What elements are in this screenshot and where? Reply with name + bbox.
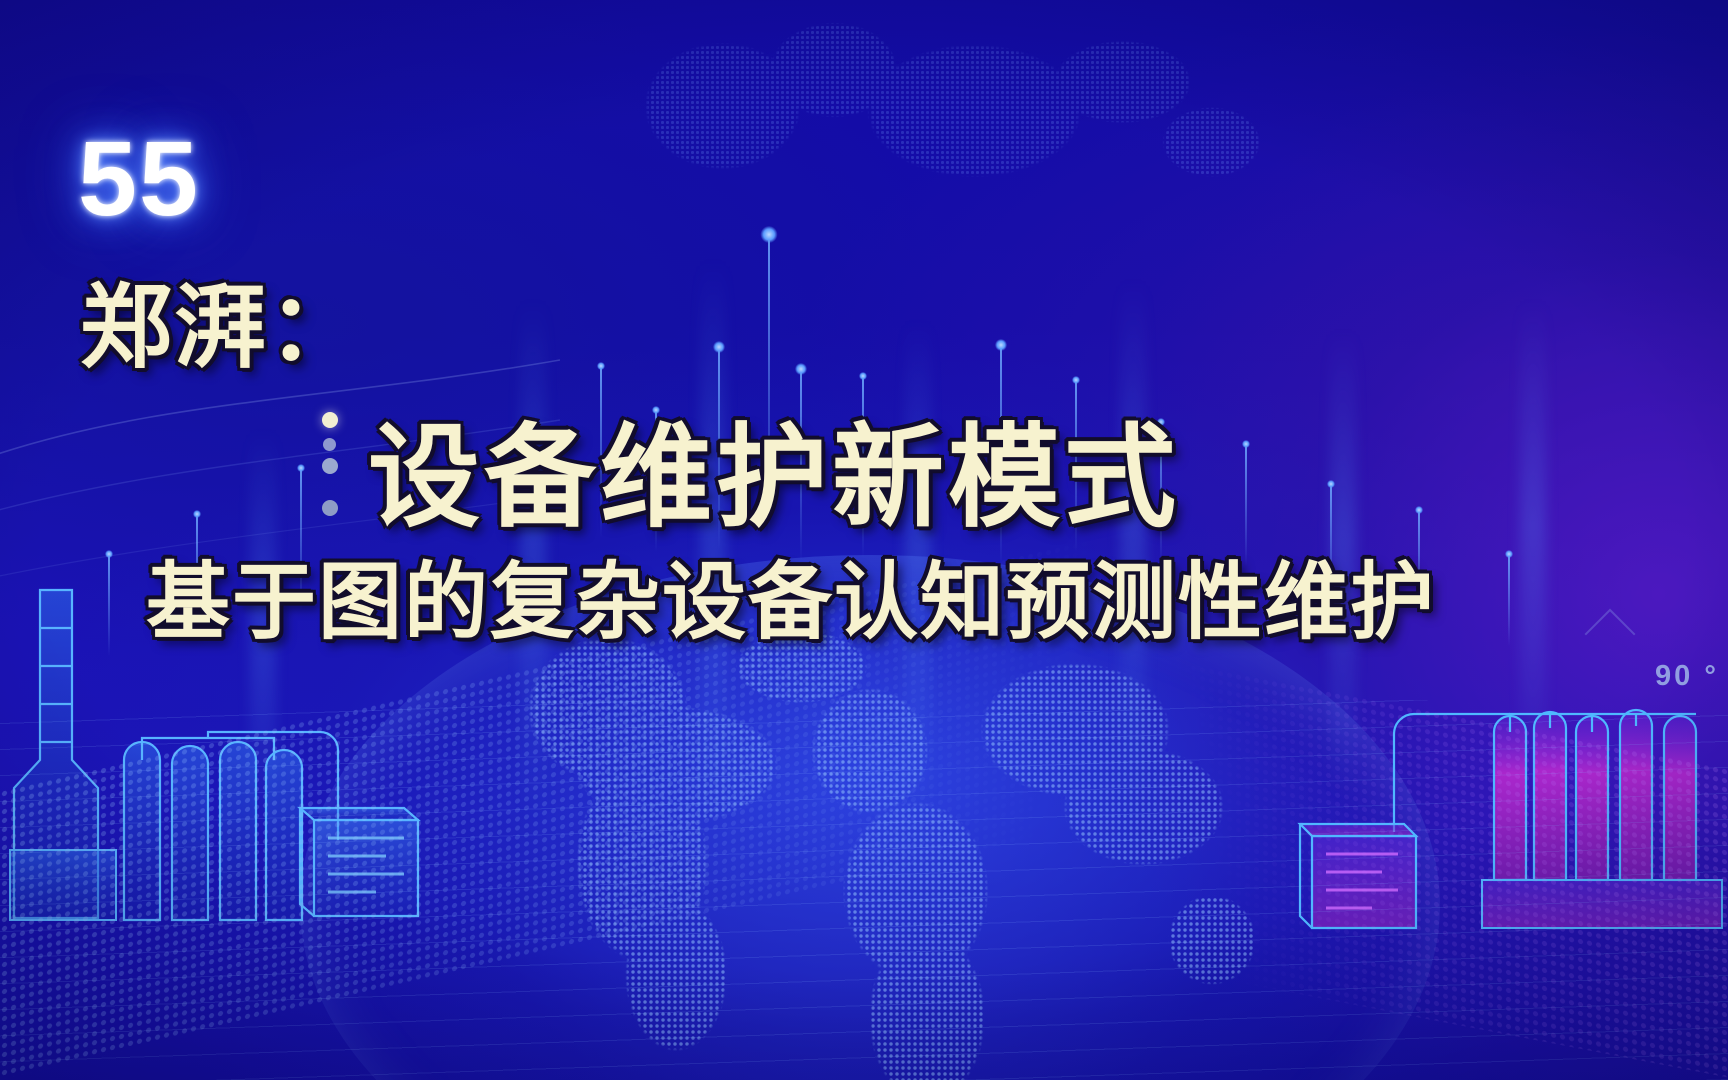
decorative-dot — [322, 500, 338, 516]
angle-label: 90 ° — [1655, 660, 1719, 693]
data-stem — [1245, 446, 1247, 566]
speaker-name: 郑湃： — [80, 282, 362, 374]
decorative-dot — [323, 438, 336, 451]
page-subtitle: 基于图的复杂设备认知预测性维护 — [146, 560, 1436, 644]
light-column — [1120, 280, 1146, 820]
decorative-dot — [322, 412, 338, 428]
data-stem — [1508, 556, 1510, 646]
dotted-world-map-top — [560, 10, 1300, 250]
decorative-dot — [322, 458, 338, 474]
page-title: 设备维护新模式 — [368, 422, 1180, 534]
slide-canvas: 90 ° 55 郑湃： 设备维护新模式 基于图的复杂设备认知预测性维护 — [0, 0, 1728, 1080]
slide-number: 55 — [78, 126, 200, 232]
